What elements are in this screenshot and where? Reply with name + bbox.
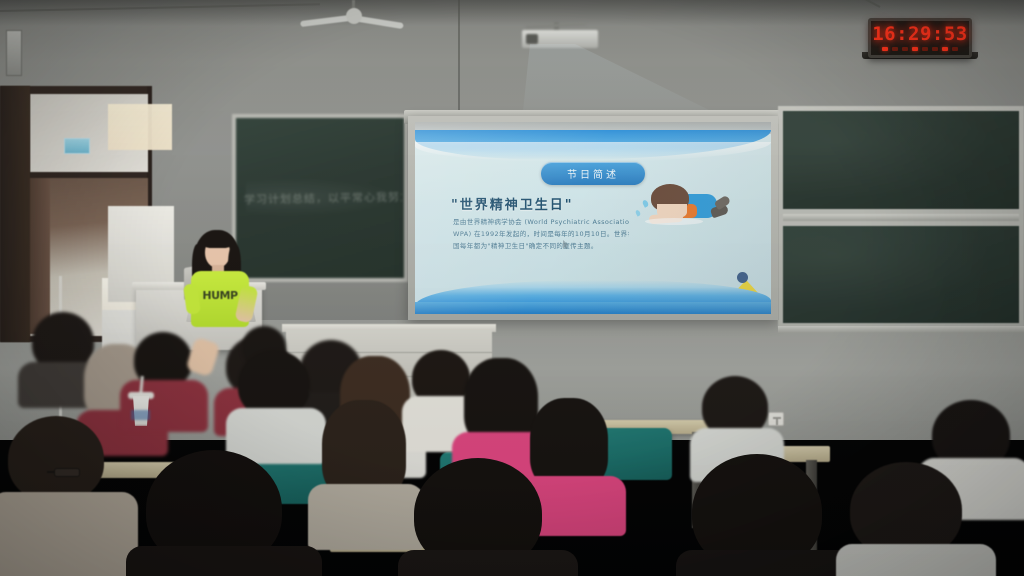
list-item bbox=[402, 458, 570, 576]
slide-body-line-3: 国每年都为"精神卫生日"确定不同的宣传主题。 bbox=[453, 240, 629, 252]
slide-wave-bottom-band bbox=[415, 302, 771, 314]
blackboard-panel-lower bbox=[783, 226, 1019, 324]
chalk-tray bbox=[778, 326, 1024, 333]
list-item bbox=[0, 416, 130, 576]
ceiling-fan-icon bbox=[300, 4, 410, 30]
classroom-scene: 16:29:53 学习计划总结，以平常心我努力 bbox=[0, 0, 1024, 576]
wall-seam bbox=[458, 0, 460, 118]
list-item bbox=[132, 450, 312, 576]
corridor-window-upper bbox=[108, 104, 172, 150]
clock-time-display: 16:29:53 bbox=[872, 25, 968, 44]
slide-body-line-2: WPA) 在1992年发起的，时间是每年的10月10日。世界各 bbox=[453, 228, 629, 240]
clock-indicator-row bbox=[882, 47, 958, 51]
slide-body-line-1: 是由世界精神病学协会 (World Psychiatric Associatio… bbox=[453, 216, 629, 228]
slide-body-text: 是由世界精神病学协会 (World Psychiatric Associatio… bbox=[453, 216, 629, 252]
drink-cup-label bbox=[131, 410, 150, 420]
slide-headline: "世界精神卫生日" bbox=[451, 194, 574, 213]
student-presenter: HUMP bbox=[178, 228, 262, 336]
door-transom-window bbox=[30, 94, 148, 172]
door-leaf[interactable] bbox=[28, 178, 50, 334]
door-jamb bbox=[0, 86, 30, 342]
wall-digital-clock: 16:29:53 bbox=[868, 18, 972, 58]
glasses-icon bbox=[54, 468, 80, 477]
crying-child-illustration bbox=[627, 174, 727, 236]
list-item bbox=[840, 462, 990, 576]
blackboard-right bbox=[778, 106, 1024, 328]
projection-screen-frame: 节日简述 "世界精神卫生日" 是由世界精神病学协会 (World Psychia… bbox=[408, 116, 778, 320]
blackboard-rail bbox=[783, 214, 1019, 221]
blackboard-panel-upper bbox=[783, 111, 1019, 209]
ceiling-projector bbox=[512, 22, 608, 48]
list-item bbox=[676, 454, 848, 576]
list-item bbox=[190, 330, 224, 370]
chalk-writing: 学习计划总结，以平常心我努力 bbox=[244, 189, 402, 214]
corridor-sign bbox=[64, 138, 90, 154]
wall-fixture bbox=[6, 30, 22, 76]
slide-wave-top-highlight bbox=[415, 142, 771, 162]
projected-slide: 节日简述 "世界精神卫生日" 是由世界精神病学协会 (World Psychia… bbox=[415, 122, 771, 314]
